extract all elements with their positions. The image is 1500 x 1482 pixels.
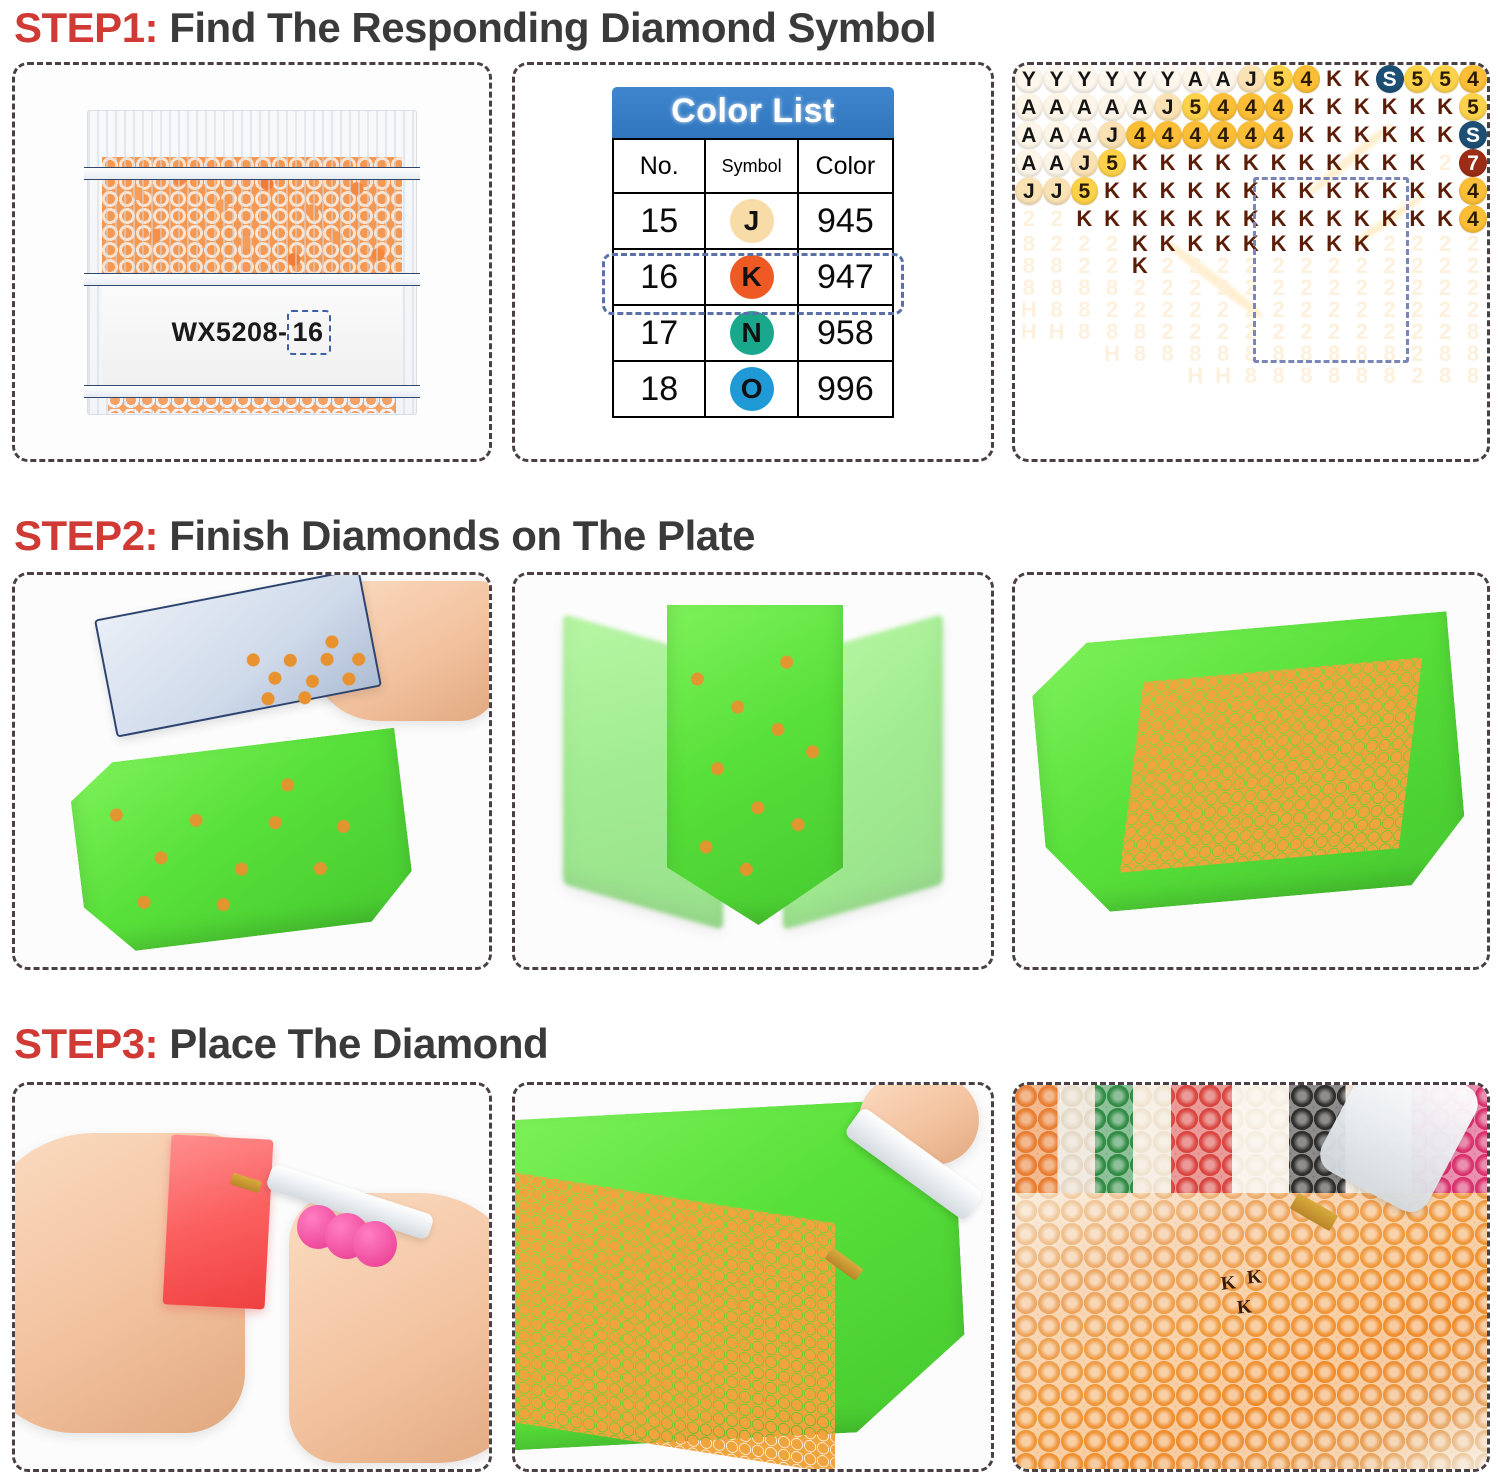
canvas-grid-cell: K xyxy=(1404,149,1432,177)
row-symbol: K xyxy=(705,249,797,305)
canvas-symbol-disc: 4 xyxy=(1154,121,1182,149)
canvas-grid-cell: K xyxy=(1293,149,1321,177)
canvas-cell-inner: 4 xyxy=(1459,205,1487,233)
canvas-symbol-text: K xyxy=(1160,206,1176,231)
canvas-cell-inner: 4 xyxy=(1154,121,1182,149)
canvas-grid-cell: 8 xyxy=(1098,277,1126,299)
canvas-grid-cell: 2 xyxy=(1126,277,1154,299)
canvas-grid-row: DDDH8888888888288 xyxy=(1015,343,1487,365)
canvas-cell-inner: 4 xyxy=(1209,121,1237,149)
canvas-symbol-text: D xyxy=(1049,363,1065,388)
bag-seal-middle xyxy=(84,273,420,286)
canvas-symbol-disc: J xyxy=(1015,177,1043,205)
canvas-grid-cell: D xyxy=(1043,343,1071,365)
canvas-grid-cell: K xyxy=(1404,177,1432,205)
canvas-grid-cell: 2 xyxy=(1293,277,1321,299)
canvas-grid-cell: 8 xyxy=(1348,343,1376,365)
canvas-grid-cell: 2 xyxy=(1459,233,1487,255)
canvas-symbol-disc: Y xyxy=(1126,65,1154,93)
canvas-grid-cell: 2 xyxy=(1293,255,1321,277)
instruction-sheet: STEP1: Find The Responding Diamond Symbo… xyxy=(0,0,1500,1482)
canvas-symbol-disc: A xyxy=(1182,65,1210,93)
color-list-title: Color List xyxy=(612,87,894,138)
canvas-grid-cell: 8 xyxy=(1126,321,1154,343)
canvas-grid-cell: K xyxy=(1404,93,1432,121)
canvas-grid-cell: 2 xyxy=(1431,233,1459,255)
dip-pen-scene xyxy=(15,1085,489,1469)
canvas-symbol-text: K xyxy=(1354,66,1370,91)
canvas-symbol-disc: Y xyxy=(1071,65,1099,93)
row-no: 16 xyxy=(613,249,705,305)
canvas-symbol-disc: A xyxy=(1015,121,1043,149)
step2-number: STEP2: xyxy=(14,512,158,559)
color-list-header-row: No. Symbol Color xyxy=(613,139,893,193)
color-list-row[interactable]: 15 J 945 xyxy=(613,193,893,249)
canvas-grid-cell: 2 xyxy=(1320,299,1348,321)
step1-heading: STEP1: Find The Responding Diamond Symbo… xyxy=(14,4,936,52)
canvas-grid-cell: A xyxy=(1071,93,1099,121)
canvas-symbol-disc: A xyxy=(1126,93,1154,121)
row-symbol: N xyxy=(705,305,797,361)
canvas-symbol-text: K xyxy=(1271,206,1287,231)
canvas-grid-cell: 2 xyxy=(1320,255,1348,277)
canvas-grid-cell: A xyxy=(1015,149,1043,177)
canvas-grid-cell: 5 xyxy=(1182,93,1210,121)
canvas-symbol-text: 8 xyxy=(1467,363,1479,388)
canvas-grid-cell: K xyxy=(1293,205,1321,233)
canvas-symbol-text: K xyxy=(1409,206,1425,231)
col-header-symbol: Symbol xyxy=(705,139,797,193)
canvas-grid-cell: K xyxy=(1237,205,1265,233)
canvas-grid-cell: K xyxy=(1348,233,1376,255)
canvas-grid-cell: 4 xyxy=(1265,121,1293,149)
canvas-grid-cell: 2 xyxy=(1209,255,1237,277)
row-no: 18 xyxy=(613,361,705,417)
canvas-symbol-disc: 7 xyxy=(1459,149,1487,177)
canvas-grid-row: JJ5KKKKKKKKKKKKK4 xyxy=(1015,177,1487,205)
canvas-symbol-disc: J xyxy=(1071,149,1099,177)
canvas-grid-cell: K xyxy=(1237,149,1265,177)
symbol-dot: J xyxy=(730,199,774,243)
canvas-cell-inner: A xyxy=(1071,93,1099,121)
canvas-grid-cell: 8 xyxy=(1265,343,1293,365)
canvas-grid-cell: 8 xyxy=(1043,299,1071,321)
canvas-grid-cell: 8 xyxy=(1320,343,1348,365)
canvas-grid-cell: K xyxy=(1237,233,1265,255)
canvas-symbol-text: K xyxy=(1132,178,1148,203)
canvas-grid-cell: K xyxy=(1126,233,1154,255)
panel-symbol-canvas: YYYYYYAAJ54KKS554AAAAAJ5444KKKKKK5AAAJ44… xyxy=(1012,62,1490,462)
canvas-grid-row: 8822K222222222222 xyxy=(1015,255,1487,277)
canvas-cell-inner: S xyxy=(1376,65,1404,93)
canvas-grid-cell: Y xyxy=(1098,65,1126,93)
canvas-grid-cell: J xyxy=(1015,177,1043,205)
bag-code: WX5208-16 xyxy=(171,316,332,349)
canvas-grid-cell: 2 xyxy=(1126,299,1154,321)
canvas-cell-inner: J xyxy=(1098,121,1126,149)
canvas-grid-cell: K xyxy=(1209,177,1237,205)
canvas-grid-cell: A xyxy=(1182,65,1210,93)
canvas-grid-cell: K xyxy=(1098,205,1126,233)
canvas-grid-cell: 2 xyxy=(1071,255,1099,277)
canvas-grid-cell: 8 xyxy=(1376,365,1404,387)
canvas-grid-cell: K xyxy=(1182,149,1210,177)
canvas-symbol-disc: S xyxy=(1459,121,1487,149)
canvas-grid-cell: K xyxy=(1154,177,1182,205)
canvas-grid-cell: J xyxy=(1154,93,1182,121)
canvas-grid-cell: 2 xyxy=(1237,277,1265,299)
canvas-grid-cell: J xyxy=(1098,121,1126,149)
canvas-grid-cell: 2 xyxy=(1182,277,1210,299)
canvas-grid-cell: 2 xyxy=(1154,277,1182,299)
canvas-grid-cell: 2 xyxy=(1209,277,1237,299)
canvas-grid-cell: K xyxy=(1431,177,1459,205)
canvas-grid-cell: 8 xyxy=(1348,365,1376,387)
row-symbol: O xyxy=(705,361,797,417)
row-color: 996 xyxy=(798,361,893,417)
step1-text: Find The Responding Diamond Symbol xyxy=(158,4,936,51)
canvas-grid-cell: 4 xyxy=(1459,65,1487,93)
step3-text: Place The Diamond xyxy=(158,1020,548,1067)
canvas-grid-cell: K xyxy=(1182,205,1210,233)
canvas-grid-cell: 2 xyxy=(1154,299,1182,321)
canvas-symbol-text: K xyxy=(1437,206,1453,231)
canvas-grid-cell: 2 xyxy=(1348,321,1376,343)
canvas-grid-cell: 2 xyxy=(1098,255,1126,277)
canvas-symbol-text: K xyxy=(1354,178,1370,203)
canvas-cell-inner: 5 xyxy=(1431,65,1459,93)
canvas-cell-inner: 4 xyxy=(1237,121,1265,149)
canvas-grid-cell: 4 xyxy=(1459,205,1487,233)
canvas-grid-row: H8822222222222222 xyxy=(1015,299,1487,321)
canvas-grid-cell: K xyxy=(1209,205,1237,233)
canvas-grid-cell: K xyxy=(1209,233,1237,255)
canvas-grid-cell: 7 xyxy=(1459,149,1487,177)
canvas-symbol-text: K xyxy=(1354,150,1370,175)
canvas-cell-inner: A xyxy=(1071,121,1099,149)
canvas-grid-cell: H xyxy=(1015,299,1043,321)
canvas-symbol-text: K xyxy=(1409,178,1425,203)
step2-heading: STEP2: Finish Diamonds on The Plate xyxy=(14,512,755,560)
canvas-grid-cell: 2 xyxy=(1098,299,1126,321)
canvas-symbol-disc: 5 xyxy=(1404,65,1432,93)
canvas-symbol-disc: 4 xyxy=(1459,177,1487,205)
canvas-symbol-text: K xyxy=(1104,206,1120,231)
canvas-symbol-text: K xyxy=(1382,94,1398,119)
canvas-symbol-grid: YYYYYYAAJ54KKS554AAAAAJ5444KKKKKK5AAAJ44… xyxy=(1015,65,1487,387)
canvas-grid-cell: 2 xyxy=(1376,299,1404,321)
canvas-grid-cell: S xyxy=(1459,121,1487,149)
canvas-grid-cell: K xyxy=(1154,149,1182,177)
canvas-cell-inner: Y xyxy=(1098,65,1126,93)
canvas-symbol-disc: 5 xyxy=(1182,93,1210,121)
canvas-grid-cell: K xyxy=(1320,233,1348,255)
canvas-symbol-text: K xyxy=(1160,178,1176,203)
canvas-grid-cell: D xyxy=(1071,343,1099,365)
canvas-cell-inner: 4 xyxy=(1182,121,1210,149)
canvas-grid-cell: 8 xyxy=(1098,321,1126,343)
canvas-grid-cell: J xyxy=(1071,149,1099,177)
canvas-symbol-text: 8 xyxy=(1356,363,1368,388)
canvas-grid-cell: D xyxy=(1043,365,1071,387)
canvas-grid-cell: K xyxy=(1098,177,1126,205)
canvas-grid-cell: 2 xyxy=(1071,233,1099,255)
canvas-grid-cell: 8 xyxy=(1431,365,1459,387)
canvas-symbol-text: K xyxy=(1243,178,1259,203)
canvas-grid-cell: K xyxy=(1126,205,1154,233)
canvas-symbol-text: K xyxy=(1104,178,1120,203)
canvas-cell-inner: A xyxy=(1126,93,1154,121)
canvas-grid-cell: K xyxy=(1376,149,1404,177)
canvas-grid-cell: Y xyxy=(1126,65,1154,93)
canvas-symbol-disc: A xyxy=(1015,93,1043,121)
canvas-symbol-text: K xyxy=(1187,178,1203,203)
canvas-symbol-text: K xyxy=(1382,122,1398,147)
step2-text: Finish Diamonds on The Plate xyxy=(158,512,755,559)
canvas-symbol-text: D xyxy=(1160,363,1176,388)
color-list-row[interactable]: 18 O 996 xyxy=(613,361,893,417)
canvas-cell-inner: 4 xyxy=(1293,65,1321,93)
canvas-grid-cell: K xyxy=(1265,205,1293,233)
canvas-grid-cell: 2 xyxy=(1376,321,1404,343)
canvas-grid-cell: 4 xyxy=(1265,93,1293,121)
color-list-card: Color List No. Symbol Color 15 J 945 16 xyxy=(612,87,894,418)
canvas-grid-cell: 5 xyxy=(1459,93,1487,121)
row-symbol: J xyxy=(705,193,797,249)
row-color: 945 xyxy=(798,193,893,249)
canvas-grid-cell: 8 xyxy=(1071,299,1099,321)
canvas-grid-cell: 2 xyxy=(1348,255,1376,277)
canvas-symbol-disc: 4 xyxy=(1265,93,1293,121)
canvas-cell-inner: Y xyxy=(1126,65,1154,93)
canvas-symbol-text: K xyxy=(1298,94,1314,119)
canvas-symbol-text: K xyxy=(1409,150,1425,175)
pour-diamonds-scene xyxy=(15,575,489,967)
canvas-grid-cell: 2 xyxy=(1376,277,1404,299)
canvas-grid-cell: 8 xyxy=(1320,365,1348,387)
canvas-symbol-disc: J xyxy=(1098,121,1126,149)
canvas-cell-inner: J xyxy=(1237,65,1265,93)
canvas-cell-inner: Y xyxy=(1154,65,1182,93)
canvas-symbol-disc: 4 xyxy=(1209,121,1237,149)
canvas-grid-cell: 4 xyxy=(1209,121,1237,149)
canvas-symbol-disc: Y xyxy=(1098,65,1126,93)
canvas-symbol-disc: 5 xyxy=(1431,65,1459,93)
canvas-grid-cell: 8 xyxy=(1071,277,1099,299)
canvas-grid-cell: A xyxy=(1015,121,1043,149)
shake-tray-scene xyxy=(515,575,991,967)
canvas-grid-cell: K xyxy=(1348,121,1376,149)
canvas-grid-cell: 8 xyxy=(1154,343,1182,365)
canvas-symbol-text: K xyxy=(1187,206,1203,231)
color-list-row[interactable]: 16 K 947 xyxy=(613,249,893,305)
canvas-grid-cell: K xyxy=(1320,205,1348,233)
canvas-symbol-text: D xyxy=(1132,363,1148,388)
canvas-symbol-disc: J xyxy=(1154,93,1182,121)
canvas-grid-cell: 2 xyxy=(1348,299,1376,321)
canvas-grid-cell: J xyxy=(1237,65,1265,93)
canvas-grid-cell: 2 xyxy=(1209,321,1237,343)
canvas-cell-inner: Y xyxy=(1071,65,1099,93)
canvas-grid-row: AAAAAJ5444KKKKKK5 xyxy=(1015,93,1487,121)
canvas-symbol-disc: J xyxy=(1237,65,1265,93)
canvas-grid-cell: 8 xyxy=(1182,343,1210,365)
canvas-grid-cell: K xyxy=(1320,149,1348,177)
canvas-grid-cell: 2 xyxy=(1043,205,1071,233)
canvas-grid-cell: S xyxy=(1376,65,1404,93)
canvas-grid-cell: 2 xyxy=(1293,321,1321,343)
canvas-symbol-text: K xyxy=(1271,178,1287,203)
canvas-symbol-text: K xyxy=(1215,150,1231,175)
canvas-grid-cell: K xyxy=(1293,121,1321,149)
canvas-grid-cell: H xyxy=(1098,343,1126,365)
canvas-symbol-disc: A xyxy=(1015,149,1043,177)
canvas-symbol-text: K xyxy=(1243,150,1259,175)
canvas-cell-inner: J xyxy=(1154,93,1182,121)
canvas-grid-cell: Y xyxy=(1015,65,1043,93)
canvas-cell-inner: J xyxy=(1043,177,1071,205)
canvas-cell-inner: Y xyxy=(1043,65,1071,93)
canvas-grid-cell: K xyxy=(1431,121,1459,149)
canvas-grid-cell: 2 xyxy=(1265,277,1293,299)
canvas-symbol-text: K xyxy=(1298,178,1314,203)
canvas-cell-inner: 4 xyxy=(1126,121,1154,149)
canvas-grid-cell: H xyxy=(1182,365,1210,387)
canvas-symbol-disc: Y xyxy=(1154,65,1182,93)
canvas-symbol-text: K xyxy=(1409,122,1425,147)
canvas-grid-cell: D xyxy=(1015,365,1043,387)
row-color: 947 xyxy=(798,249,893,305)
canvas-symbol-text: K xyxy=(1437,178,1453,203)
canvas-symbol-text: H xyxy=(1215,363,1231,388)
canvas-symbol-disc: 4 xyxy=(1126,121,1154,149)
canvas-cell-inner: S xyxy=(1459,121,1487,149)
canvas-grid-cell: 5 xyxy=(1404,65,1432,93)
canvas-grid-cell: K xyxy=(1348,65,1376,93)
canvas-grid-row: 88882222222222222 xyxy=(1015,277,1487,299)
canvas-grid-cell: 5 xyxy=(1265,65,1293,93)
canvas-symbol-text: K xyxy=(1437,94,1453,119)
canvas-grid-cell: 2 xyxy=(1459,299,1487,321)
panel-diamond-bag: WX5208-16 xyxy=(12,62,492,462)
canvas-grid-cell: 2 xyxy=(1404,321,1432,343)
row-no: 17 xyxy=(613,305,705,361)
canvas-grid-cell: K xyxy=(1293,93,1321,121)
canvas-grid-cell: 8 xyxy=(1043,255,1071,277)
step1-number: STEP1: xyxy=(14,4,158,51)
canvas-grid-cell: 8 xyxy=(1431,343,1459,365)
canvas-grid-cell: A xyxy=(1126,93,1154,121)
panel-pickup-diamond xyxy=(512,1082,994,1472)
canvas-symbol-disc: 4 xyxy=(1459,205,1487,233)
zip-bag: WX5208-16 xyxy=(87,110,417,415)
canvas-grid-cell: H xyxy=(1043,321,1071,343)
canvas-cell-inner: 5 xyxy=(1459,93,1487,121)
canvas-grid-cell: K xyxy=(1265,149,1293,177)
canvas-grid-cell: K xyxy=(1376,121,1404,149)
canvas-symbol-text: 8 xyxy=(1328,363,1340,388)
canvas-symbol-text: K xyxy=(1326,150,1342,175)
canvas-grid-cell: 2 xyxy=(1265,255,1293,277)
canvas-grid-cell: K xyxy=(1071,205,1099,233)
canvas-cell-inner: A xyxy=(1015,93,1043,121)
canvas-grid-cell: A xyxy=(1043,149,1071,177)
canvas-cell-inner: 5 xyxy=(1071,177,1099,205)
canvas-grid-cell: 2 xyxy=(1237,255,1265,277)
canvas-cell-inner: A xyxy=(1098,93,1126,121)
canvas-grid-cell: K xyxy=(1265,177,1293,205)
canvas-grid-cell: 5 xyxy=(1071,177,1099,205)
canvas-grid-cell: 2 xyxy=(1431,277,1459,299)
bag-label: WX5208-16 xyxy=(102,281,402,385)
canvas-symbol-text: K xyxy=(1215,178,1231,203)
bag-seal-bottom xyxy=(84,385,420,398)
canvas-grid-cell: 2 xyxy=(1459,255,1487,277)
canvas-symbol-text: K xyxy=(1271,150,1287,175)
canvas-symbol-text: 8 xyxy=(1245,363,1257,388)
canvas-cell-inner: J xyxy=(1015,177,1043,205)
canvas-cell-inner: 4 xyxy=(1459,65,1487,93)
canvas-symbol-disc: 5 xyxy=(1459,93,1487,121)
canvas-grid-cell: J xyxy=(1043,177,1071,205)
canvas-symbol-disc: S xyxy=(1376,65,1404,93)
canvas-grid-cell: K xyxy=(1320,121,1348,149)
canvas-grid-cell: K xyxy=(1348,205,1376,233)
step3-number: STEP3: xyxy=(14,1020,158,1067)
canvas-grid-cell: 2 xyxy=(1404,343,1432,365)
canvas-symbol-text: 8 xyxy=(1439,363,1451,388)
canvas-symbol-text: D xyxy=(1021,363,1037,388)
canvas-grid-row: YYYYYYAAJ54KKS554 xyxy=(1015,65,1487,93)
canvas-cell-inner: 5 xyxy=(1404,65,1432,93)
canvas-symbol-text: 8 xyxy=(1300,363,1312,388)
canvas-symbol-text: 2 xyxy=(1051,206,1063,231)
col-header-color: Color xyxy=(798,139,893,193)
canvas-cell-inner: A xyxy=(1043,149,1071,177)
symbol-dot: K xyxy=(730,255,774,299)
canvas-grid-cell: Y xyxy=(1043,65,1071,93)
canvas-symbol-text: K xyxy=(1298,206,1314,231)
canvas-grid-cell: 2 xyxy=(1209,299,1237,321)
canvas-symbol-disc: 4 xyxy=(1182,121,1210,149)
panel-shake-tray xyxy=(512,572,994,970)
canvas-grid-cell: 2 xyxy=(1015,205,1043,233)
canvas-cell-inner: 4 xyxy=(1265,93,1293,121)
canvas-grid-row: 22KKKKKKKKKKKKKK4 xyxy=(1015,205,1487,233)
canvas-grid-cell: 5 xyxy=(1098,149,1126,177)
canvas-symbol-text: K xyxy=(1215,206,1231,231)
bag-seal-top xyxy=(84,167,420,180)
canvas-symbol-text: 2 xyxy=(1411,363,1423,388)
color-list-row[interactable]: 17 N 958 xyxy=(613,305,893,361)
canvas-grid-cell: 2 xyxy=(1431,255,1459,277)
canvas-symbol-text: K xyxy=(1354,206,1370,231)
canvas-grid-cell: K xyxy=(1320,65,1348,93)
pen-grip-ring xyxy=(353,1221,397,1267)
aligned-diamond-rows xyxy=(1120,657,1422,872)
canvas-grid-cell: 8 xyxy=(1293,365,1321,387)
canvas-symbol-text: K xyxy=(1160,150,1176,175)
canvas-grid-cell: 8 xyxy=(1015,277,1043,299)
canvas-grid-cell: 2 xyxy=(1182,255,1210,277)
symbol-dot: N xyxy=(730,311,774,355)
canvas-symbol-text: 8 xyxy=(1384,363,1396,388)
canvas-grid-cell: 8 xyxy=(1459,343,1487,365)
canvas-grid-cell: K xyxy=(1404,205,1432,233)
canvas-grid-cell: K xyxy=(1348,177,1376,205)
canvas-symbol-text: K xyxy=(1382,178,1398,203)
canvas-grid-cell: 2 xyxy=(1265,321,1293,343)
